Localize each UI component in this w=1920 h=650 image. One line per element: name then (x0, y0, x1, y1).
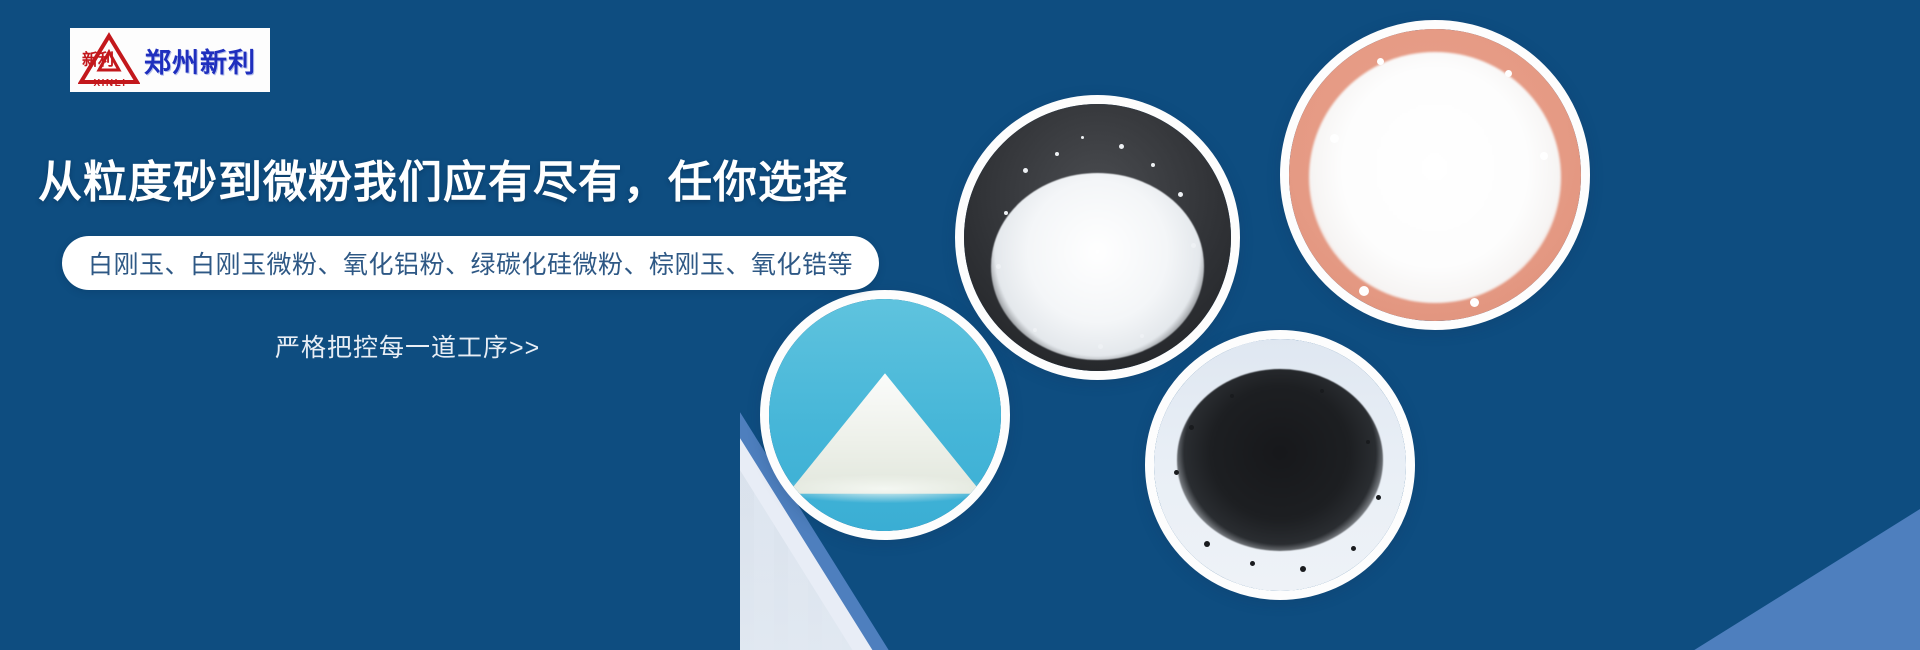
promotional-banner: 新利 XINLI 郑州新利 从粒度砂到微粉我们应有尽有，任你选择 白刚玉、白刚玉… (0, 0, 1920, 650)
logo-mark-en: XINLI (79, 79, 141, 89)
cta-link[interactable]: 严格把控每一道工序>> (275, 328, 540, 364)
product-photo-powder-cone (760, 290, 1010, 540)
material-heap (1309, 52, 1560, 303)
logo-mark-cn: 新利 (82, 53, 114, 69)
company-logo[interactable]: 新利 XINLI 郑州新利 (70, 28, 270, 92)
product-list-pill: 白刚玉、白刚玉微粉、氧化铝粉、绿碳化硅微粉、棕刚玉、氧化锆等 (62, 236, 879, 290)
triangle-logo-icon: 新利 XINLI (78, 32, 140, 88)
product-list-text: 白刚玉、白刚玉微粉、氧化铝粉、绿碳化硅微粉、棕刚玉、氧化锆等 (88, 245, 853, 281)
product-collage (740, 0, 1920, 650)
page-title: 从粒度砂到微粉我们应有尽有，任你选择 (38, 146, 848, 210)
product-photo-white-powder (1280, 20, 1590, 330)
material-base-scatter (778, 475, 991, 503)
material-heap (991, 173, 1205, 360)
material-heap (1177, 369, 1384, 550)
product-photo-black-grit (1145, 330, 1415, 600)
company-name: 郑州新利 (144, 41, 256, 80)
